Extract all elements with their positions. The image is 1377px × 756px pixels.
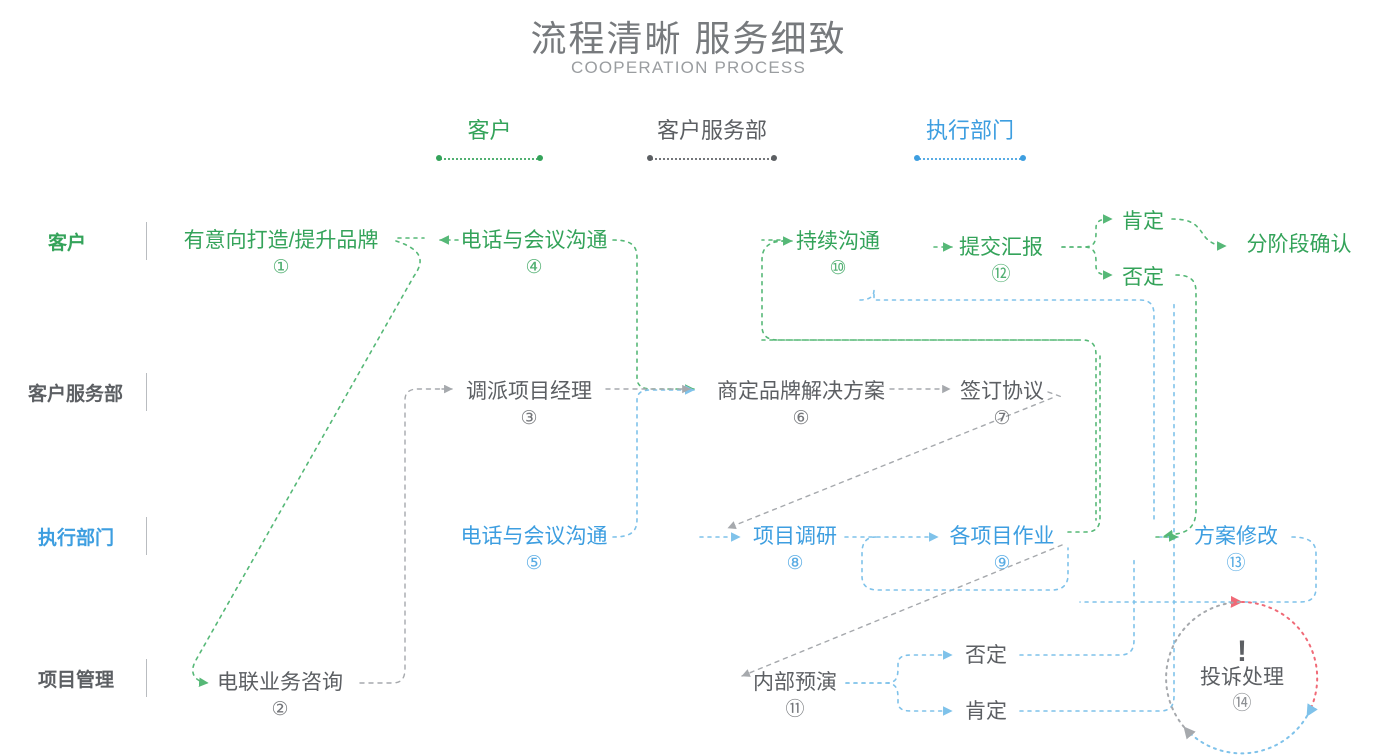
- node-label: 内部预演: [753, 670, 837, 696]
- row-label-service-dept: 客户服务部: [28, 379, 123, 406]
- node-1[interactable]: 有意向打造/提升品牌 ①: [184, 228, 379, 281]
- node-number: ⑨: [950, 551, 1055, 577]
- node-number: ⑩: [796, 256, 880, 282]
- node-label: 分阶段确认: [1247, 232, 1352, 258]
- node-2[interactable]: 电联业务咨询 ②: [217, 670, 343, 723]
- node-label: 有意向打造/提升品牌: [184, 228, 379, 254]
- branch-negate-upper[interactable]: 否定: [1122, 265, 1164, 291]
- node-number: ⑬: [1194, 551, 1278, 577]
- flowchart-canvas: 流程清晰 服务细致 COOPERATION PROCESS 客户 客户服务部 执…: [0, 0, 1377, 756]
- node-label: 方案修改: [1194, 524, 1278, 550]
- node-number: ①: [184, 255, 379, 281]
- row-divider: [146, 373, 147, 411]
- node-11[interactable]: 内部预演 ⑪: [753, 670, 837, 723]
- node-number: ⑥: [717, 406, 885, 432]
- row-label-customer: 客户: [48, 228, 86, 255]
- node-label: 电话与会议沟通: [461, 524, 608, 550]
- node-phased-confirm[interactable]: 分阶段确认: [1247, 232, 1352, 258]
- branch-label: 否定: [965, 643, 1007, 669]
- node-number: ⑤: [461, 551, 608, 577]
- branch-affirm-lower[interactable]: 肯定: [965, 699, 1007, 725]
- node-label: 项目调研: [753, 524, 837, 550]
- node-number: ⑪: [753, 697, 837, 723]
- node-label: 持续沟通: [796, 229, 880, 255]
- node-9[interactable]: 各项目作业 ⑨: [950, 524, 1055, 577]
- node-number: ⑧: [753, 551, 837, 577]
- legend-label: 客户服务部: [648, 113, 776, 145]
- node-number: ⑫: [959, 262, 1043, 288]
- node-8[interactable]: 项目调研 ⑧: [753, 524, 837, 577]
- node-number: ②: [217, 697, 343, 723]
- node-number: ⑭: [1232, 692, 1251, 716]
- node-label: 调派项目经理: [466, 379, 592, 405]
- node-13[interactable]: 方案修改 ⑬: [1194, 524, 1278, 577]
- node-label: 电联业务咨询: [217, 670, 343, 696]
- node-label: 签订协议: [960, 379, 1044, 405]
- node-label: 电话与会议沟通: [461, 228, 608, 254]
- legend-rule: [437, 155, 542, 162]
- page-title: 流程清晰 服务细致: [0, 10, 1377, 62]
- node-label: 各项目作业: [950, 524, 1055, 550]
- node-label: 投诉处理: [1200, 664, 1284, 692]
- node-number: ④: [461, 255, 608, 281]
- branch-affirm-upper[interactable]: 肯定: [1122, 209, 1164, 235]
- node-4[interactable]: 电话与会议沟通 ④: [461, 228, 608, 281]
- node-6[interactable]: 商定品牌解决方案 ⑥: [717, 379, 885, 432]
- legend-item-service-dept: 客户服务部: [648, 113, 776, 162]
- node-10[interactable]: 持续沟通 ⑩: [796, 229, 880, 282]
- row-divider: [146, 517, 147, 555]
- page-subtitle: COOPERATION PROCESS: [0, 58, 1377, 78]
- row-divider: [146, 659, 147, 697]
- node-number: ③: [466, 406, 592, 432]
- node-14-complaint-handling[interactable]: ! 投诉处理 ⑭: [1166, 602, 1318, 754]
- node-12[interactable]: 提交汇报 ⑫: [959, 235, 1043, 288]
- legend-rule: [648, 155, 776, 162]
- branch-label: 肯定: [1122, 209, 1164, 235]
- row-divider: [146, 222, 147, 260]
- legend-rule: [915, 155, 1025, 162]
- node-label: 提交汇报: [959, 235, 1043, 261]
- branch-label: 肯定: [965, 699, 1007, 725]
- legend-item-customer: 客户: [437, 113, 542, 162]
- legend-item-exec-dept: 执行部门: [915, 113, 1025, 162]
- exclamation-icon: !: [1237, 640, 1247, 664]
- legend-label: 客户: [437, 113, 542, 145]
- node-7[interactable]: 签订协议 ⑦: [960, 379, 1044, 432]
- node-3[interactable]: 调派项目经理 ③: [466, 379, 592, 432]
- branch-negate-lower[interactable]: 否定: [965, 643, 1007, 669]
- node-label: 商定品牌解决方案: [717, 379, 885, 405]
- node-number: ⑦: [960, 406, 1044, 432]
- row-label-project-mgmt: 项目管理: [38, 665, 114, 692]
- row-label-exec-dept: 执行部门: [38, 523, 114, 550]
- node-5[interactable]: 电话与会议沟通 ⑤: [461, 524, 608, 577]
- branch-label: 否定: [1122, 265, 1164, 291]
- legend-label: 执行部门: [915, 113, 1025, 145]
